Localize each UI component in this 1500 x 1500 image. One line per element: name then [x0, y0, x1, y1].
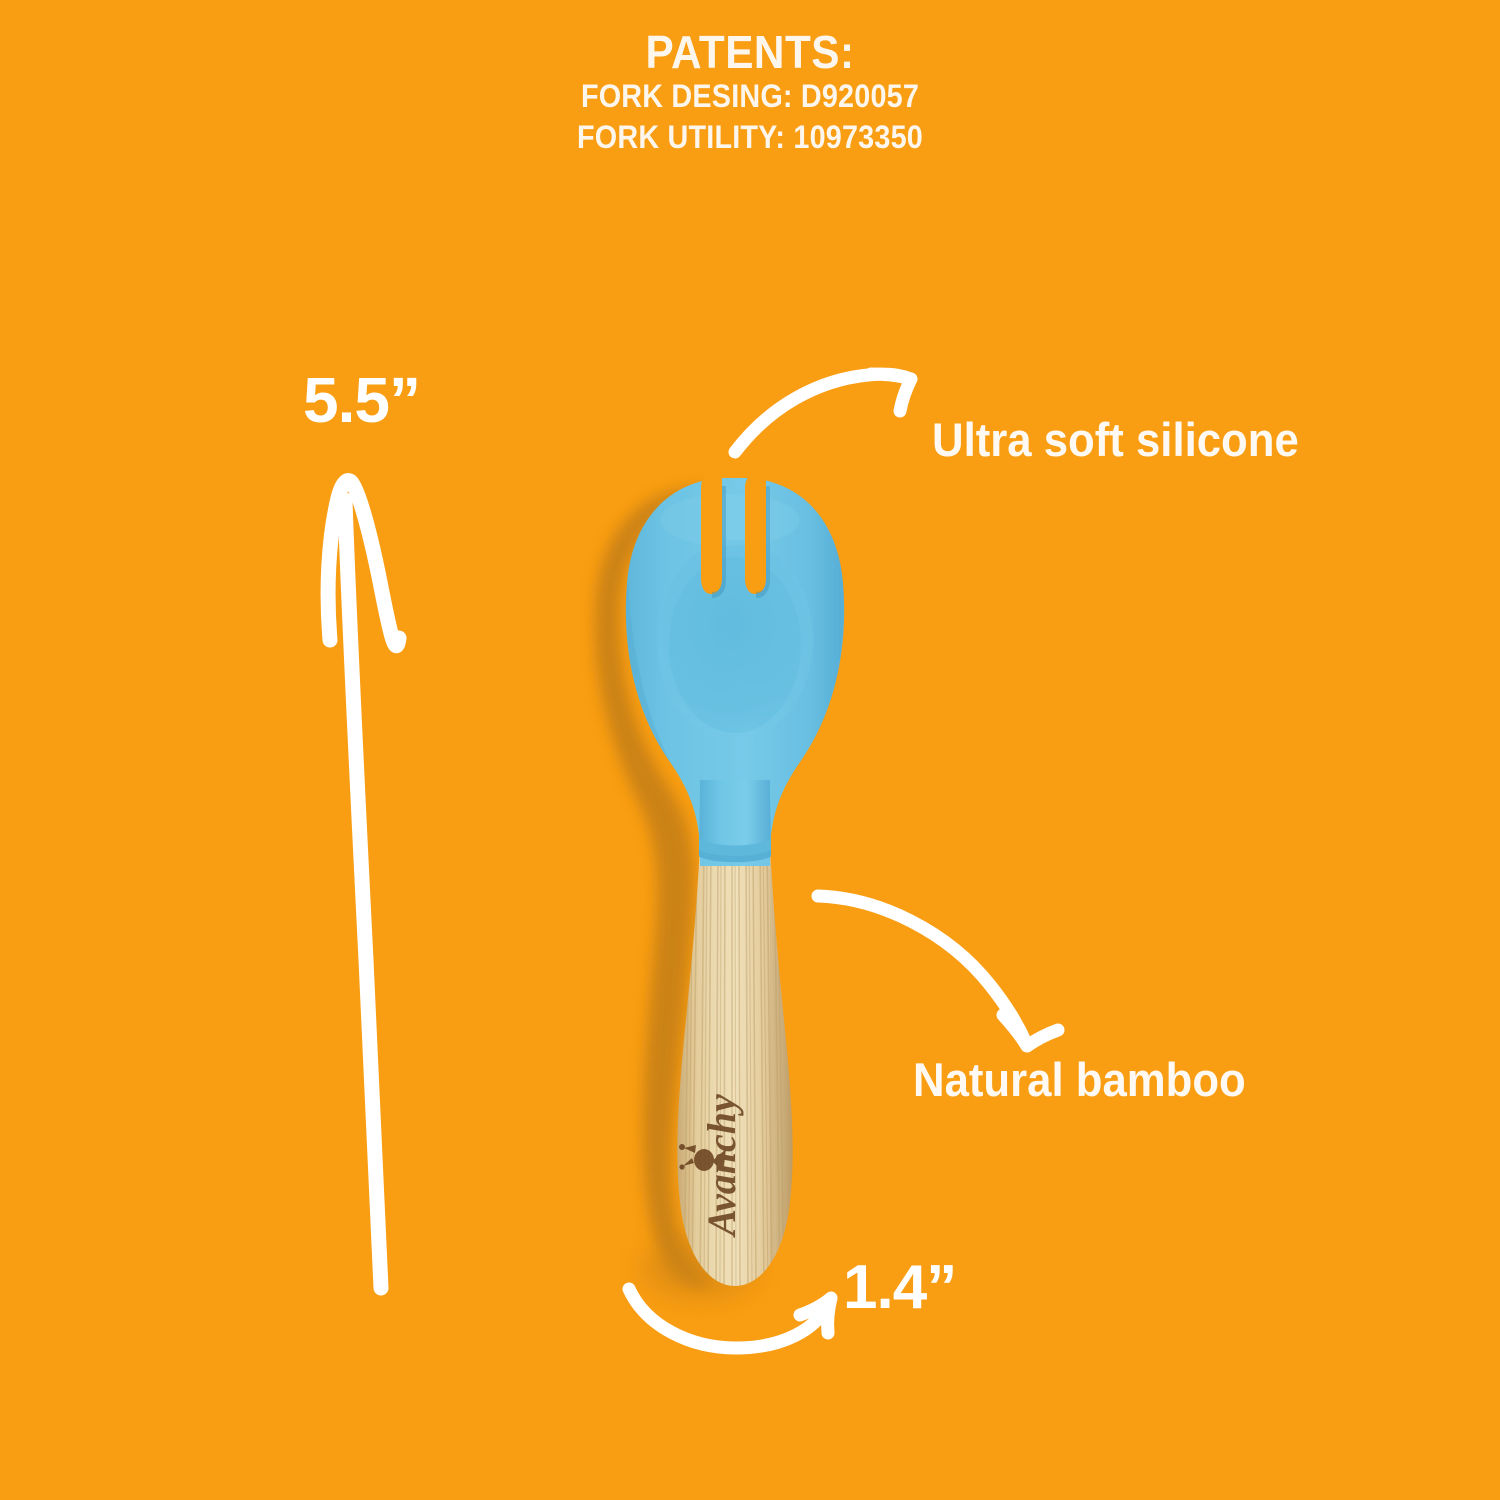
width-arrow: [629, 1289, 831, 1348]
dimension-label-total-length: 5.5”: [303, 363, 420, 437]
bamboo-callout-arrow: [818, 896, 1058, 1046]
dimension-label-handle-width: 1.4”: [843, 1252, 956, 1323]
arrow-annotations: [0, 0, 1500, 1500]
infographic-canvas: PATENTS: FORK DESING: D920057 FORK UTILI…: [0, 0, 1500, 1500]
callout-label-ultra-soft-silicone: Ultra soft silicone: [932, 412, 1299, 467]
length-arrow: [328, 481, 399, 1288]
callout-label-natural-bamboo: Natural bamboo: [913, 1052, 1246, 1107]
silicone-callout-arrow: [735, 374, 911, 452]
